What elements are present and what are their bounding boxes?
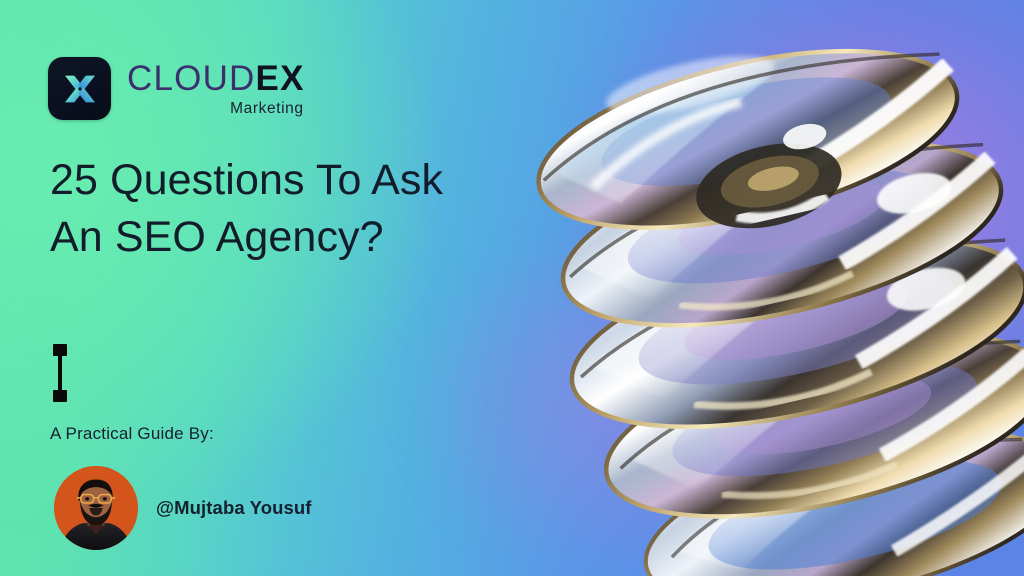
author-credit[interactable]: @Mujtaba Yousuf bbox=[54, 466, 312, 550]
byline-label: A Practical Guide By: bbox=[50, 424, 214, 444]
author-avatar-photo bbox=[54, 466, 138, 550]
marketing-banner: CLOUDEX Marketing 25 Questions To Ask An… bbox=[0, 0, 1024, 576]
author-handle: @Mujtaba Yousuf bbox=[156, 497, 312, 519]
byline-column: A Practical Guide By: bbox=[48, 0, 518, 576]
chrome-spiral-graphic bbox=[490, 0, 1024, 576]
